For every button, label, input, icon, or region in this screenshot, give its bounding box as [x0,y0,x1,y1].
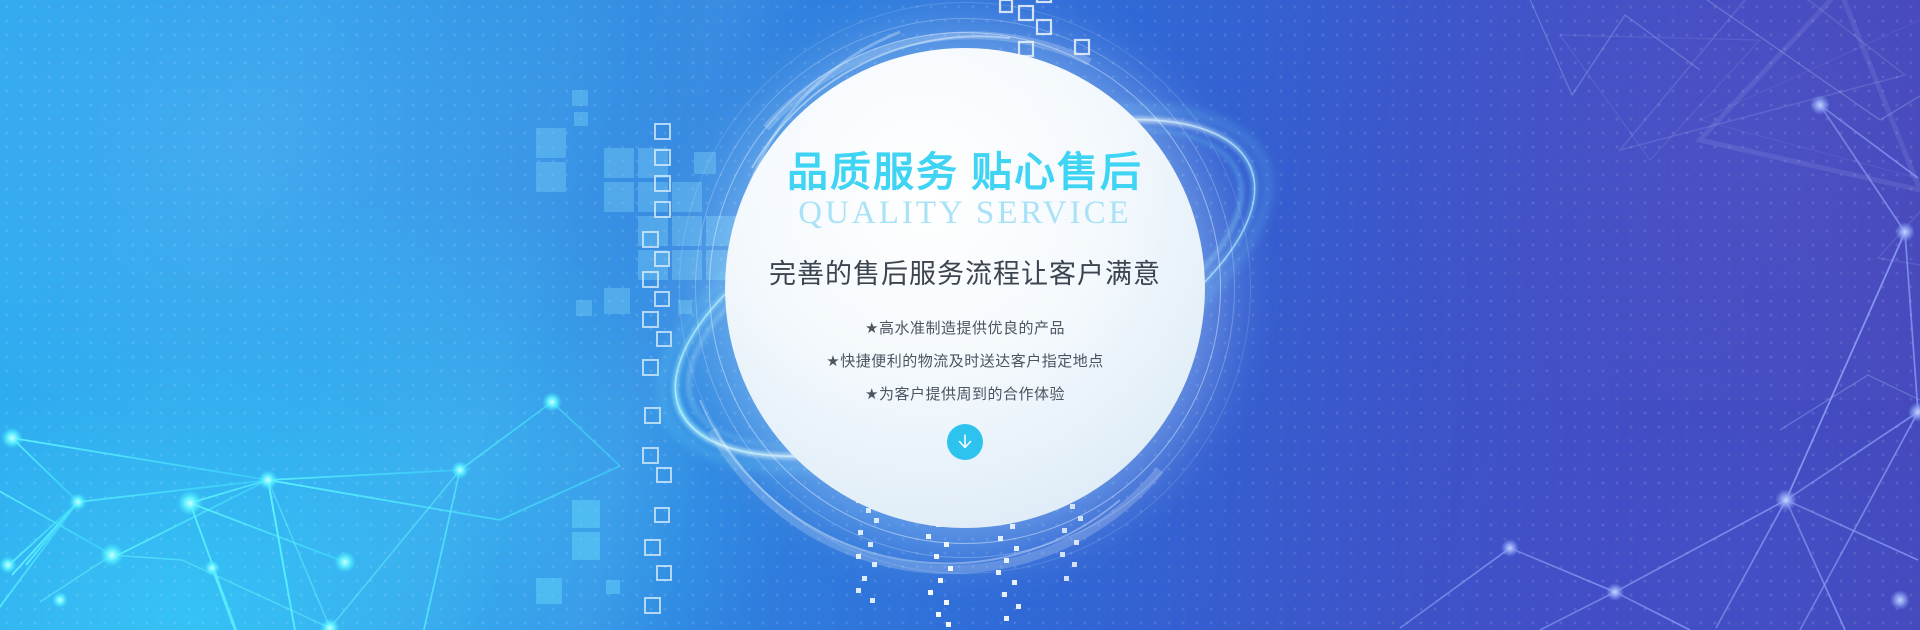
outlined-square-column [643,124,671,613]
hero-circle: 品质服务贴心售后 QUALITY SERVICE 完善的售后服务流程让客户满意 … [725,48,1205,528]
headline-chinese: 品质服务贴心售后 [787,152,1143,193]
headline-part-2: 贴心售后 [971,149,1143,195]
list-item: ★快捷便利的物流及时送达客户指定地点 [826,350,1103,371]
headline-part-1: 品质服务 [787,149,959,195]
network-graph-bottom-left-b [212,402,620,630]
subheadline: 完善的售后服务流程让客户满意 [769,252,1161,291]
arrow-down-icon [955,432,975,452]
thin-polyline-top-right [1528,0,1920,430]
network-graph-bottom-right [1400,105,1918,630]
list-item: ★高水准制造提供优良的产品 [865,317,1065,338]
network-graph-bottom-left [0,438,620,630]
glow-top-left [0,0,700,440]
list-item: ★为客户提供周到的合作体验 [865,383,1065,404]
diagonal-sheen-c [0,0,498,630]
network-graph-lower-left-detail [40,470,460,628]
scroll-down-button[interactable] [947,424,983,460]
hero-content: 品质服务贴心售后 QUALITY SERVICE 完善的售后服务流程让客户满意 … [725,48,1205,528]
glow-top-right [1360,0,1920,400]
feature-list: ★高水准制造提供优良的产品 ★快捷便利的物流及时送达客户指定地点 ★为客户提供周… [826,317,1103,404]
network-nodes-cyan [0,392,562,630]
service-hero-banner: 品质服务贴心售后 QUALITY SERVICE 完善的售后服务流程让客户满意 … [0,0,1920,630]
glow-bottom-right [1280,210,1920,630]
triangle-outlines-top-right [1560,0,1920,370]
filled-square-cluster-lower [536,500,620,604]
network-nodes-blue [1501,95,1920,610]
glow-bottom-left [0,130,780,630]
triangle-outlines-far-right [1700,0,1920,190]
headline-english: QUALITY SERVICE [798,197,1132,230]
